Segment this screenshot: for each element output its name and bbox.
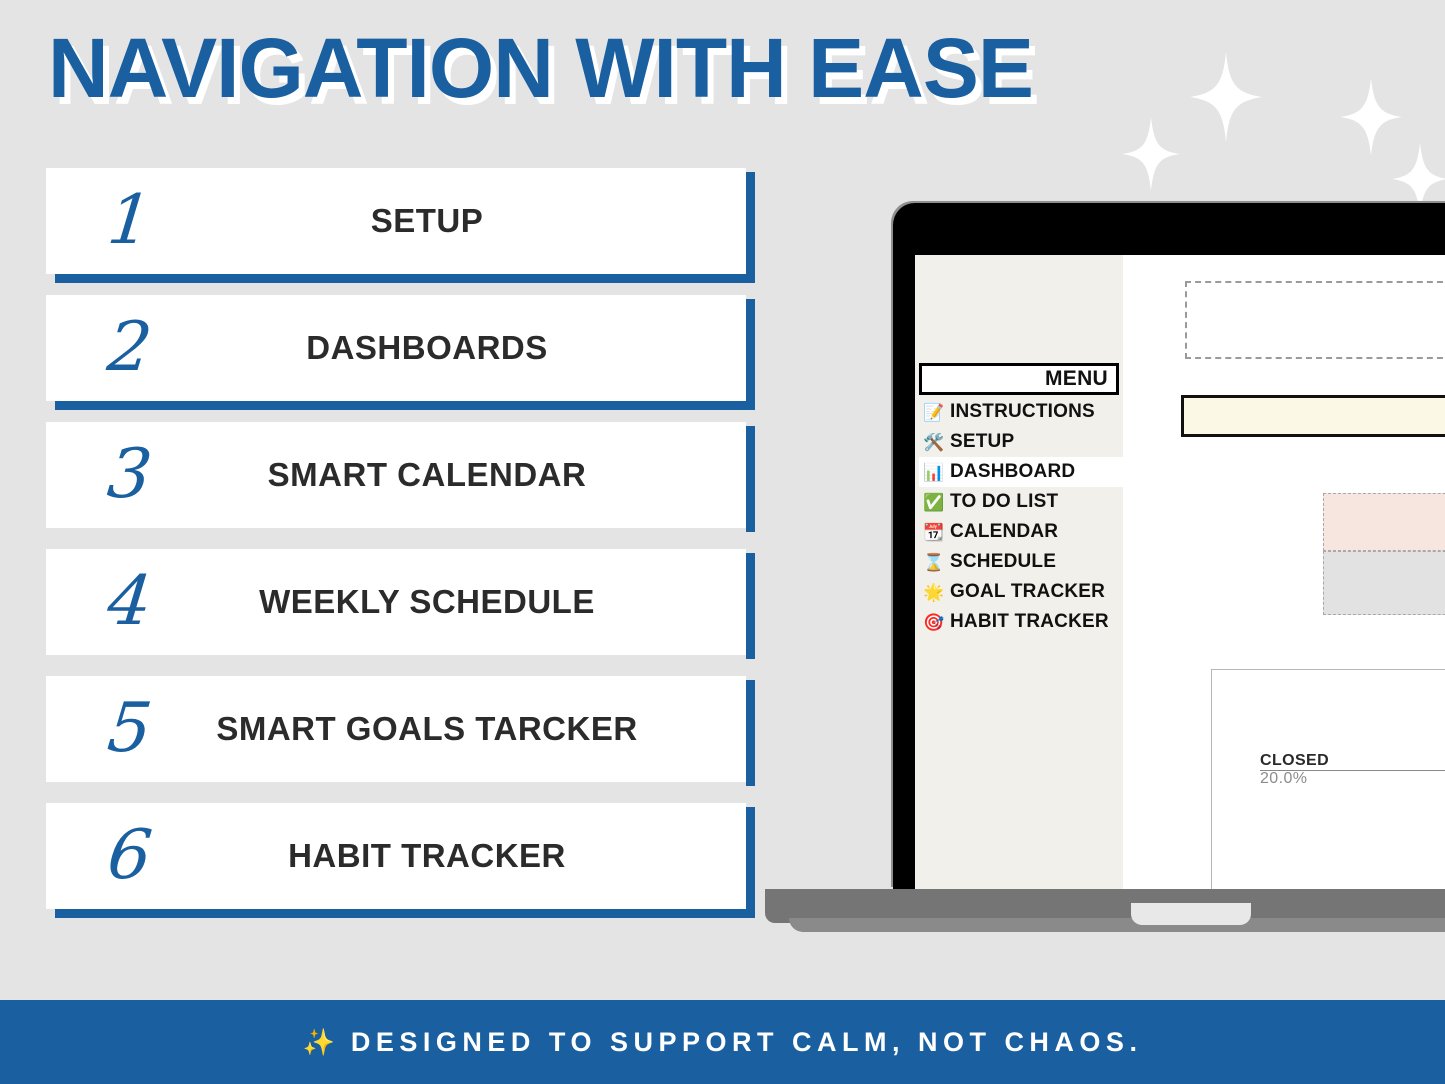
menu-item-calendar[interactable]: 📆 CALENDAR [919, 517, 1123, 547]
card-content: 5 SMART GOALS TARCKER [46, 676, 746, 782]
sparkle-icon [1122, 117, 1180, 191]
card-accent-right [746, 299, 755, 405]
progress-chart-panel: PROGRESS CLOSED 20.0% [1211, 669, 1445, 889]
laptop-bezel: MENU 📝 INSTRUCTIONS 🛠️ SETUP 📊 DASHB [893, 203, 1445, 889]
menu-item-setup[interactable]: 🛠️ SETUP [919, 427, 1123, 457]
card-content: 2 DASHBOARDS [46, 295, 746, 401]
dashed-input-box[interactable] [1185, 281, 1445, 359]
glowing-star-icon: 🌟 [921, 584, 947, 601]
card-content: 1 SETUP [46, 168, 746, 274]
menu-item-goal-tracker[interactable]: 🌟 GOAL TRACKER [919, 577, 1123, 607]
card-number: 4 [104, 568, 154, 636]
laptop-base-notch [1131, 903, 1251, 925]
donut-leader-line [1260, 770, 1445, 771]
laptop-mockup: MENU 📝 INSTRUCTIONS 🛠️ SETUP 📊 DASHB [893, 203, 1445, 889]
menu-item-label: GOAL TRACKER [950, 581, 1105, 603]
card-accent-bottom [55, 401, 755, 410]
menu-list[interactable]: 📝 INSTRUCTIONS 🛠️ SETUP 📊 DASHBOARD [919, 397, 1123, 637]
footer-banner: ✨ DESIGNED TO SUPPORT CALM, NOT CHAOS. [0, 1000, 1445, 1084]
overview-value-cell [1323, 551, 1445, 615]
bar-chart-icon: 📊 [921, 464, 947, 481]
card-number: 1 [104, 187, 154, 255]
nav-card-setup[interactable]: 1 SETUP [46, 168, 746, 274]
card-number: 3 [104, 441, 154, 509]
nav-card-dashboards[interactable]: 2 DASHBOARDS [46, 295, 746, 401]
menu-item-habit-tracker[interactable]: 🎯 HABIT TRACKER [919, 607, 1123, 637]
spreadsheet-app: MENU 📝 INSTRUCTIONS 🛠️ SETUP 📊 DASHB [915, 255, 1445, 889]
menu-item-dashboard[interactable]: 📊 DASHBOARD [919, 457, 1123, 487]
card-accent-right [746, 680, 755, 786]
menu-item-instructions[interactable]: 📝 INSTRUCTIONS [919, 397, 1123, 427]
hourglass-icon: ⌛ [921, 554, 947, 571]
footer-tagline: DESIGNED TO SUPPORT CALM, NOT CHAOS. [351, 1027, 1143, 1058]
card-number: 6 [104, 822, 154, 890]
card-content: 4 WEEKLY SCHEDULE [46, 549, 746, 655]
sparkles-icon: ✨ [303, 1029, 335, 1055]
menu-header: MENU [919, 363, 1119, 395]
card-accent-bottom [55, 274, 755, 283]
card-number: 5 [104, 695, 154, 763]
progress-chart-title: PROGRESS [1212, 684, 1445, 715]
highlighted-cell[interactable] [1181, 395, 1445, 437]
check-mark-icon: ✅ [921, 494, 947, 511]
menu-item-label: DASHBOARD [950, 461, 1075, 483]
laptop-base-lip [789, 918, 1445, 932]
menu-item-schedule[interactable]: ⌛ SCHEDULE [919, 547, 1123, 577]
menu-item-label: SETUP [950, 431, 1014, 453]
page-title: NAVIGATION WITH EASE [48, 26, 1033, 110]
memo-icon: 📝 [921, 404, 947, 421]
menu-item-label: CALENDAR [950, 521, 1058, 543]
card-accent-bottom [55, 909, 755, 918]
poster-canvas: NAVIGATION WITH EASE MENU 📝 INSTRUCTIONS… [0, 0, 1445, 1084]
navigation-card-list: 1 SETUP 2 DASHBOARDS 3 SMART CALENDAR 4 … [46, 168, 746, 930]
menu-item-label: HABIT TRACKER [950, 611, 1109, 633]
menu-item-label: INSTRUCTIONS [950, 401, 1095, 423]
card-accent-right [746, 172, 755, 278]
card-number: 2 [104, 314, 154, 382]
dart-target-icon: 🎯 [921, 614, 947, 631]
card-accent-right [746, 807, 755, 913]
card-accent-right [746, 553, 755, 659]
spreadsheet-body: O PROGRESS CLOSED 20.0% [1123, 255, 1445, 889]
nav-card-habit-tracker[interactable]: 6 HABIT TRACKER [46, 803, 746, 909]
sparkle-icon [1190, 52, 1262, 142]
card-content: 6 HABIT TRACKER [46, 803, 746, 909]
card-content: 3 SMART CALENDAR [46, 422, 746, 528]
card-accent-right [746, 426, 755, 532]
menu-item-to-do-list[interactable]: ✅ TO DO LIST [919, 487, 1123, 517]
nav-card-weekly-schedule[interactable]: 4 WEEKLY SCHEDULE [46, 549, 746, 655]
menu-item-label: SCHEDULE [950, 551, 1056, 573]
laptop-screen: MENU 📝 INSTRUCTIONS 🛠️ SETUP 📊 DASHB [915, 255, 1445, 889]
tools-icon: 🛠️ [921, 434, 947, 451]
menu-item-label: TO DO LIST [950, 491, 1058, 513]
nav-card-smart-calendar[interactable]: 3 SMART CALENDAR [46, 422, 746, 528]
calendar-icon: 📆 [921, 524, 947, 541]
overview-header-cell: O [1323, 493, 1445, 551]
nav-card-smart-goals-tracker[interactable]: 5 SMART GOALS TARCKER [46, 676, 746, 782]
